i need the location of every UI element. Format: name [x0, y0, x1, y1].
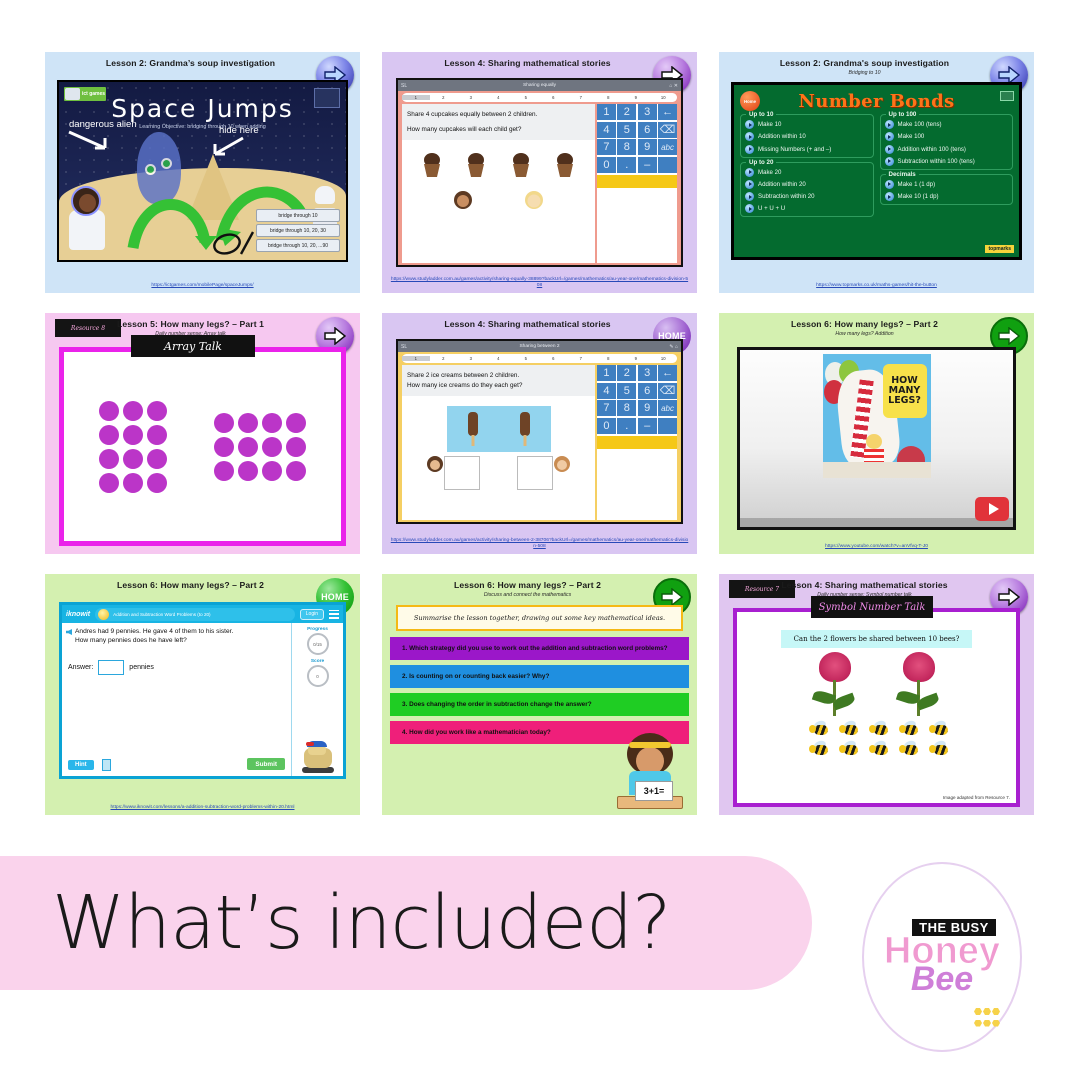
book-title: HOW MANY LEGS? [883, 376, 927, 406]
slide-title: Lesson 4: Sharing mathematical stories [737, 581, 992, 590]
flowers-row [737, 652, 1016, 718]
slide-source-url[interactable]: https://ictgames.com/mobilePage/spaceJum… [53, 283, 352, 290]
menu-icon[interactable] [329, 610, 339, 619]
qnum-10[interactable]: 10 [650, 95, 678, 100]
option-make-20[interactable]: Make 20 [745, 168, 869, 177]
array-dot [147, 425, 167, 445]
answer-input[interactable] [98, 660, 124, 675]
ice-cream-tray [447, 406, 551, 452]
iknowit-body: Andres had 9 pennies. He gave 4 of them … [62, 623, 343, 776]
window-title: Sharing between 2 [519, 344, 559, 349]
group-caption: Up to 100 [886, 111, 920, 118]
sand-strip [823, 462, 931, 478]
qnum-2[interactable]: 2 [430, 95, 458, 100]
key-dot[interactable]: . [617, 157, 636, 173]
numeric-keypad[interactable]: 1 2 3 ← 4 5 6 ⌫ 7 8 9 abc 0 [597, 104, 677, 263]
array-dot [262, 461, 282, 481]
window-right-icons: ✎ ⌂ [669, 344, 678, 350]
play-icon [885, 120, 894, 129]
level-button-group[interactable]: bridge through 10 bridge through 10, 20,… [256, 209, 340, 254]
array-dot [123, 401, 143, 421]
question-pane: Share 2 ice creams between 2 children. H… [402, 365, 595, 520]
brand-logo: THE BUSY Honey Bee [862, 862, 1022, 1052]
key-2[interactable]: 2 [617, 104, 636, 120]
progress-label: Progress [307, 627, 328, 632]
option-label: Missing Numbers (+ and –) [758, 146, 831, 153]
hint-button[interactable]: Hint [68, 760, 94, 770]
option-label: Make 10 [758, 121, 781, 128]
play-icon [745, 204, 754, 213]
key-0[interactable]: 0 [597, 157, 616, 173]
iknowit-window: iknowit Addition and Subtraction Word Pr… [59, 602, 346, 779]
array-talk-banner: Array Talk [131, 335, 255, 357]
symbol-number-talk-frame: Can the 2 flowers be shared between 10 b… [733, 608, 1020, 807]
cupcake-icon [510, 152, 532, 178]
play-icon [745, 180, 754, 189]
option-addition-within-100-tens[interactable]: Addition within 100 (tens) [885, 145, 1009, 154]
key-clear[interactable]: ⌫ [658, 383, 677, 399]
left-column: Up to 10 Make 10 Addition within 10 Miss… [740, 114, 874, 221]
key-backspace[interactable]: ← [658, 365, 677, 381]
answer-label: Answer: [68, 664, 93, 671]
array-left-4x3 [99, 401, 167, 493]
youtube-video-frame[interactable]: HOW MANY LEGS? [737, 347, 1016, 530]
key-7[interactable]: 7 [597, 400, 616, 416]
discussion-question-1: 1. Which strategy did you use to work ou… [390, 637, 689, 660]
key-minus[interactable]: – [638, 157, 657, 173]
discussion-question-3: 3. Does changing the order in subtractio… [390, 693, 689, 716]
option-label: Make 100 [898, 133, 925, 140]
array-talk-frame [59, 347, 346, 546]
array-dot [286, 413, 306, 433]
option-label: Make 100 (tens) [898, 121, 942, 128]
child-boy-icon [523, 190, 545, 212]
cupcake-row [402, 152, 595, 178]
qnum-5[interactable]: 5 [512, 356, 540, 361]
bees-group [737, 722, 1016, 762]
game-title: Number Bonds [734, 91, 1019, 112]
ice-cream-icon [517, 411, 533, 447]
bee-icon [896, 722, 918, 737]
qnum-10[interactable]: 10 [650, 356, 678, 361]
slide-title: Lesson 2: Grandma’s soup investigation [63, 59, 318, 68]
option-label: Make 1 (1 dp) [898, 181, 936, 188]
space-jumps-game-frame: ict games Space Jumps Learning Objective… [57, 80, 348, 262]
qnum-2[interactable]: 2 [430, 356, 458, 361]
child-girl-icon [426, 456, 444, 474]
question-area: Andres had 9 pennies. He gave 4 of them … [62, 623, 291, 776]
answer-unit: pennies [129, 664, 154, 671]
group-up-to-20: Up to 20 Make 20 Addition within 20 Subt… [740, 162, 874, 218]
lesson-name: Addition and Subtraction Word Problems (… [113, 612, 210, 617]
flower-icon [895, 652, 943, 718]
drop-box-left[interactable] [444, 456, 480, 490]
slide-subtitle: How many legs? Addition [737, 331, 992, 337]
slide-thumbnail-9[interactable]: Resource 7 Lesson 4: Sharing mathematica… [719, 574, 1034, 815]
number-ten-drawing [211, 230, 259, 256]
slide-subtitle: Discuss and connect the mathematics [400, 592, 655, 598]
array-dot [238, 437, 258, 457]
window-left-icons: SL [401, 83, 407, 89]
keypad-grid[interactable]: 1 2 3 ← 4 5 6 ⌫ 7 8 9 abc 0 [597, 104, 677, 173]
key-2[interactable]: 2 [617, 365, 636, 381]
array-dot [286, 437, 306, 457]
array-dot [123, 449, 143, 469]
keypad-grid[interactable]: 1 2 3 ← 4 5 6 ⌫ 7 8 9 abc 0 [597, 365, 677, 434]
symbol-number-talk-banner: Symbol Number Talk [811, 596, 933, 618]
drop-box-right[interactable] [517, 456, 553, 490]
qnum-8[interactable]: 8 [595, 356, 623, 361]
key-blank[interactable] [658, 418, 677, 434]
page-root: Lesson 2: Grandma’s soup investigation i… [0, 0, 1080, 1080]
option-make-1-1dp[interactable]: Make 1 (1 dp) [885, 180, 1009, 189]
question-number-bar[interactable]: 1 2 3 4 5 6 7 8 9 10 [402, 354, 677, 363]
window-content: 1 2 3 4 5 6 7 8 9 10 Share 2 ice creams … [398, 352, 681, 522]
qnum-5[interactable]: 5 [512, 95, 540, 100]
option-label: Make 10 (1 dp) [898, 193, 939, 200]
key-1[interactable]: 1 [597, 104, 616, 120]
key-5[interactable]: 5 [617, 383, 636, 399]
summary-prompt-box: Summarise the lesson together, drawing o… [396, 605, 683, 631]
array-dot [238, 461, 258, 481]
slide-title: Lesson 2: Grandma's soup investigation [737, 59, 992, 68]
video-progress-bar[interactable] [740, 518, 1013, 527]
qnum-6[interactable]: 6 [540, 95, 568, 100]
question-line-2: How many pennies does he have left? [68, 637, 285, 646]
discussion-question-2: 2. Is counting on or counting back easie… [390, 665, 689, 688]
bee-row-1 [737, 722, 1016, 737]
array-dot [123, 425, 143, 445]
topmarks-game-frame: Home Number Bonds Up to 10 Make 10 Addit… [731, 82, 1022, 260]
question-text: Share 2 ice creams between 2 children. H… [402, 365, 595, 396]
slide-thumbnail-4[interactable]: Resource 8 Lesson 5: How many legs? – Pa… [45, 313, 360, 554]
arrow-right-icon [998, 327, 1020, 345]
progress-ring: 0/15 [307, 633, 329, 655]
qnum-6[interactable]: 6 [540, 356, 568, 361]
bee-icon [866, 722, 888, 737]
pointer-arrow-2-icon [209, 134, 249, 160]
key-minus[interactable]: – [638, 418, 657, 434]
submit-button[interactable]: Submit [247, 758, 285, 770]
window-title: Sharing equally [523, 83, 556, 88]
studyladder-window: SL Sharing equally ⌂ ✕ 1 2 3 4 5 6 7 8 9 [396, 78, 683, 267]
play-icon [745, 168, 754, 177]
arrays-container [76, 364, 329, 529]
right-column: Up to 100 Make 100 (tens) Make 100 Addit… [880, 114, 1014, 221]
key-6[interactable]: 6 [638, 122, 657, 138]
notebook-icon[interactable] [102, 759, 111, 771]
key-6[interactable]: 6 [638, 383, 657, 399]
ice-cream-icon [465, 411, 481, 447]
youtube-play-button[interactable] [975, 497, 1009, 521]
option-addition-within-10[interactable]: Addition within 10 [745, 132, 869, 141]
slide-title: Lesson 6: How many legs? – Part 2 [737, 320, 992, 329]
group-caption: Up to 20 [746, 159, 776, 166]
level-button-1[interactable]: bridge through 10 [256, 209, 340, 222]
play-icon [745, 120, 754, 129]
slide-thumbnail-3[interactable]: Lesson 2: Grandma's soup investigation B… [719, 52, 1034, 293]
array-dot [214, 461, 234, 481]
slide-thumbnail-2[interactable]: Lesson 4: Sharing mathematical stories S… [382, 52, 697, 293]
key-9[interactable]: 9 [638, 139, 657, 155]
group-up-to-10: Up to 10 Make 10 Addition within 10 Miss… [740, 114, 874, 158]
key-7[interactable]: 7 [597, 139, 616, 155]
option-make-100[interactable]: Make 100 [885, 132, 1009, 141]
slide-source-url[interactable]: https://www.youtube.com/watch?v=anVfvq-T… [727, 544, 1026, 551]
key-dot[interactable]: . [617, 418, 636, 434]
array-dot [123, 473, 143, 493]
slide-thumbnail-6[interactable]: Lesson 6: How many legs? – Part 2 How ma… [719, 313, 1034, 554]
play-icon [885, 157, 894, 166]
slide-source-url[interactable]: https://www.iknowit.com/lessons/a-additi… [53, 805, 352, 812]
logo-line-bee: Bee [911, 964, 973, 995]
banner-heading: What’s included? [52, 856, 792, 990]
slide-thumbnail-5[interactable]: Lesson 4: Sharing mathematical stories H… [382, 313, 697, 554]
option-u-plus-u-plus-u[interactable]: U + U + U [745, 204, 869, 213]
option-label: Subtraction within 100 (tens) [898, 158, 975, 165]
key-0[interactable]: 0 [597, 418, 616, 434]
children-row [402, 190, 595, 212]
option-label: Addition within 100 (tens) [898, 146, 966, 153]
level-button-3[interactable]: bridge through 10, 20, ...90 [256, 239, 340, 252]
student-illustration: 3+1= [613, 733, 687, 811]
array-dot [262, 413, 282, 433]
play-icon [745, 132, 754, 141]
image-credit: Image adapted from Resource 7. [943, 795, 1010, 800]
option-label: Addition within 20 [758, 181, 806, 188]
array-dot [147, 401, 167, 421]
level-button-2[interactable]: bridge through 10, 20, 30 [256, 224, 340, 237]
option-label: Make 20 [758, 169, 781, 176]
play-icon [885, 180, 894, 189]
key-abc[interactable]: abc [658, 400, 677, 416]
prompt-text: Can the 2 flowers be shared between 10 b… [781, 630, 972, 648]
key-9[interactable]: 9 [638, 400, 657, 416]
array-dot [99, 473, 119, 493]
group-caption: Decimals [886, 171, 919, 178]
bee-row-2 [737, 742, 1016, 757]
fullscreen-icon[interactable] [1000, 91, 1014, 101]
slide-title: Lesson 4: Sharing mathematical stories [400, 59, 655, 68]
play-icon [885, 132, 894, 141]
honeycomb-icon [974, 1008, 1000, 1030]
key-8[interactable]: 8 [617, 400, 636, 416]
array-dot [99, 401, 119, 421]
astronaut-character [67, 172, 111, 250]
slide-thumbnail-1[interactable]: Lesson 2: Grandma’s soup investigation i… [45, 52, 360, 293]
option-missing-numbers[interactable]: Missing Numbers (+ and –) [745, 145, 869, 154]
studyladder-window: SL Sharing between 2 ✎ ⌂ 1 2 3 4 5 6 7 8… [396, 339, 683, 524]
answer-input-bar[interactable] [597, 175, 677, 188]
option-label: Subtraction within 20 [758, 193, 815, 200]
question-line-1: Share 4 cupcakes equally between 2 child… [407, 110, 590, 120]
summary-prompt-text: Summarise the lesson together, drawing o… [414, 614, 665, 622]
slide-thumbnail-7[interactable]: Lesson 6: How many legs? – Part 2 HOME i… [45, 574, 360, 815]
array-dot [99, 449, 119, 469]
logo-line-the-busy: THE BUSY [912, 919, 996, 936]
answer-row: Answer: pennies [68, 660, 285, 675]
option-make-10-1dp[interactable]: Make 10 (1 dp) [885, 192, 1009, 201]
window-titlebar: SL Sharing equally ⌂ ✕ [398, 80, 681, 91]
topmarks-logo: topmarks [985, 245, 1014, 253]
login-button[interactable]: Login [300, 609, 324, 620]
option-make-100-tens[interactable]: Make 100 (tens) [885, 120, 1009, 129]
cupcake-icon [554, 152, 576, 178]
bee-icon [926, 722, 948, 737]
score-ring: 0 [307, 665, 329, 687]
arrow-right-icon [998, 588, 1020, 606]
key-8[interactable]: 8 [617, 139, 636, 155]
key-blank[interactable] [658, 157, 677, 173]
window-left-icons: SL [401, 344, 407, 350]
sun-icon [98, 609, 109, 620]
lesson-title-pill: Addition and Subtraction Word Problems (… [95, 608, 295, 621]
qnum-7[interactable]: 7 [567, 95, 595, 100]
qnum-9[interactable]: 9 [622, 95, 650, 100]
arrow-right-icon [661, 588, 683, 606]
flower-icon [811, 652, 859, 718]
slide-title: Lesson 6: How many legs? – Part 2 [63, 581, 318, 590]
slide-source-url[interactable]: https://www.studyladder.com.au/games/act… [390, 538, 689, 551]
numeric-keypad[interactable]: 1 2 3 ← 4 5 6 ⌫ 7 8 9 abc 0 [597, 365, 677, 520]
play-icon [745, 145, 754, 154]
child-target-right [517, 456, 571, 490]
book-cover-image: HOW MANY LEGS? [823, 354, 931, 478]
group-decimals: Decimals Make 1 (1 dp) Make 10 (1 dp) [880, 174, 1014, 205]
game-option-columns: Up to 10 Make 10 Addition within 10 Miss… [734, 112, 1019, 221]
share-targets [402, 456, 595, 490]
array-dot [214, 413, 234, 433]
cupcake-icon [421, 152, 443, 178]
option-make-10[interactable]: Make 10 [745, 120, 869, 129]
question-number-bar[interactable]: 1 2 3 4 5 6 7 8 9 10 [402, 93, 677, 102]
cupcake-icon [465, 152, 487, 178]
array-dot [238, 413, 258, 433]
iknowit-logo: iknowit [66, 611, 90, 618]
play-icon [745, 192, 754, 201]
qnum-4[interactable]: 4 [485, 95, 513, 100]
question-line-1: Share 2 ice creams between 2 children. [407, 371, 590, 381]
group-up-to-100: Up to 100 Make 100 (tens) Make 100 Addit… [880, 114, 1014, 170]
pointer-arrow-1-icon [65, 128, 121, 154]
array-dot [262, 437, 282, 457]
array-dot [147, 449, 167, 469]
bee-icon [806, 722, 828, 737]
slide-title: Lesson 6: How many legs? – Part 2 [400, 581, 655, 590]
slide-thumbnail-8[interactable]: Lesson 6: How many legs? – Part 2 Discus… [382, 574, 697, 815]
alien-eye-left [145, 164, 156, 175]
bee-icon [866, 742, 888, 757]
slide-source-url[interactable]: https://www.topmarks.co.uk/maths-games/h… [727, 283, 1026, 290]
child-target-left [426, 456, 480, 490]
window-right-icons: ⌂ ✕ [669, 83, 678, 89]
bee-icon [896, 742, 918, 757]
iknowit-header: iknowit Addition and Subtraction Word Pr… [62, 605, 343, 623]
bee-icon [806, 742, 828, 757]
speech-bubble: HOW MANY LEGS? [883, 364, 927, 418]
slide-thumbnail-grid: Lesson 2: Grandma’s soup investigation i… [45, 52, 1035, 815]
question-line-2: How many ice creams do they each get? [407, 381, 590, 391]
qnum-4[interactable]: 4 [485, 356, 513, 361]
array-right-3x4 [214, 413, 306, 481]
score-label: Score [311, 659, 324, 664]
slide-source-url[interactable]: https://www.studyladder.com.au/games/act… [390, 277, 689, 290]
slide-title: Lesson 5: How many legs? – Part 1 [63, 320, 318, 329]
key-abc[interactable]: abc [658, 139, 677, 155]
bee-icon [836, 742, 858, 757]
qnum-3[interactable]: 3 [457, 356, 485, 361]
key-3[interactable]: 3 [638, 365, 657, 381]
question-pane: Share 4 cupcakes equally between 2 child… [402, 104, 595, 263]
option-addition-within-20[interactable]: Addition within 20 [745, 180, 869, 189]
key-backspace[interactable]: ← [658, 104, 677, 120]
key-4[interactable]: 4 [597, 383, 616, 399]
arrow-right-icon [324, 327, 346, 345]
qnum-7[interactable]: 7 [567, 356, 595, 361]
child-girl-icon [452, 190, 474, 212]
array-dot [214, 437, 234, 457]
option-subtraction-within-100-tens[interactable]: Subtraction within 100 (tens) [885, 157, 1009, 166]
key-5[interactable]: 5 [617, 122, 636, 138]
qnum-3[interactable]: 3 [457, 95, 485, 100]
whiteboard-text: 3+1= [635, 781, 673, 801]
array-dot [147, 473, 167, 493]
bee-icon [836, 722, 858, 737]
option-label: U + U + U [758, 205, 785, 212]
key-clear[interactable]: ⌫ [658, 122, 677, 138]
array-dot [99, 425, 119, 445]
home-button[interactable]: Home [740, 91, 760, 111]
progress-sidebar: Progress 0/15 Score 0 [291, 623, 343, 776]
option-label: Addition within 10 [758, 133, 806, 140]
bee-icon [926, 742, 948, 757]
play-icon [885, 145, 894, 154]
window-content: 1 2 3 4 5 6 7 8 9 10 Share 4 cupcakes eq… [398, 91, 681, 265]
key-1[interactable]: 1 [597, 365, 616, 381]
key-4[interactable]: 4 [597, 122, 616, 138]
question-text: Share 4 cupcakes equally between 2 child… [402, 104, 595, 140]
qnum-1[interactable]: 1 [402, 95, 430, 100]
question-line-2: How many cupcakes will each child get? [407, 125, 590, 135]
play-icon [885, 192, 894, 201]
slide-subtitle: Bridging to 10 [737, 70, 992, 76]
question-line-1: Andres had 9 pennies. He gave 4 of them … [68, 628, 285, 637]
window-titlebar: SL Sharing between 2 ✎ ⌂ [398, 341, 681, 352]
slide-title: Lesson 4: Sharing mathematical stories [400, 320, 655, 329]
qnum-1[interactable]: 1 [402, 356, 430, 361]
child-boy-icon [553, 456, 571, 474]
qnum-8[interactable]: 8 [595, 95, 623, 100]
answer-input-bar[interactable] [597, 436, 677, 449]
qnum-9[interactable]: 9 [622, 356, 650, 361]
alien-eye-right [161, 158, 172, 169]
mascot-icon [301, 741, 335, 773]
key-3[interactable]: 3 [638, 104, 657, 120]
option-subtraction-within-20[interactable]: Subtraction within 20 [745, 192, 869, 201]
array-dot [286, 461, 306, 481]
group-caption: Up to 10 [746, 111, 776, 118]
